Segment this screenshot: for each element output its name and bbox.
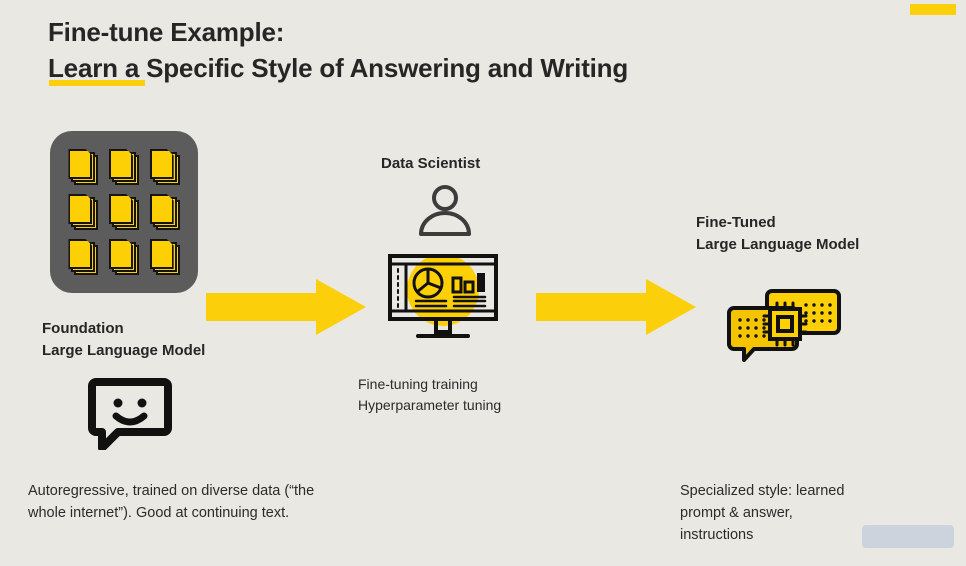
document-stack — [109, 149, 139, 185]
title-underline-accent — [49, 80, 145, 86]
foundation-description: Autoregressive, trained on diverse data … — [28, 480, 348, 524]
title-line-1: Fine-tune Example: — [48, 14, 908, 50]
title-line-2: Learn a Specific Style of Answering and … — [48, 50, 908, 86]
foundation-label-line-1: Foundation — [42, 318, 205, 340]
caption-line-2: Hyperparameter tuning — [358, 395, 501, 416]
arrow-training-to-finetuned — [536, 279, 696, 335]
document-stack — [109, 239, 139, 275]
bottom-right-placeholder-chip — [862, 525, 954, 548]
document-grid-icon — [50, 131, 198, 293]
fine-tuned-description-line-2: prompt & answer, — [680, 502, 930, 524]
page-title: Fine-tune Example: Learn a Specific Styl… — [48, 14, 908, 86]
arrow-foundation-to-training — [206, 279, 366, 335]
foundation-label-line-2: Large Language Model — [42, 340, 205, 362]
fine-tuned-label-line-1: Fine-Tuned — [696, 212, 859, 234]
caption-line-1: Fine-tuning training — [358, 374, 501, 395]
foundation-model-label: Foundation Large Language Model — [42, 318, 205, 362]
document-stack — [150, 194, 180, 230]
smiley-chat-bubble-icon — [88, 378, 172, 450]
document-stack — [109, 194, 139, 230]
document-stack — [150, 149, 180, 185]
data-scientist-label-text: Data Scientist — [381, 153, 480, 175]
top-right-accent-bar — [910, 4, 956, 15]
slide-canvas: Fine-tune Example: Learn a Specific Styl… — [0, 0, 966, 566]
fine-tuning-caption: Fine-tuning training Hyperparameter tuni… — [358, 374, 501, 416]
document-stack — [68, 194, 98, 230]
document-stack — [68, 239, 98, 275]
fine-tuned-label-line-2: Large Language Model — [696, 234, 859, 256]
person-icon — [414, 184, 476, 236]
dashboard-monitor-icon — [384, 248, 502, 340]
fine-tuned-model-label: Fine-Tuned Large Language Model — [696, 212, 859, 256]
document-stack — [68, 149, 98, 185]
fine-tuned-description-line-1: Specialized style: learned — [680, 480, 930, 502]
chat-bubbles-chip-icon — [726, 288, 842, 362]
data-scientist-label: Data Scientist — [381, 153, 480, 175]
foundation-description-text: Autoregressive, trained on diverse data … — [28, 480, 348, 524]
document-stack — [150, 239, 180, 275]
